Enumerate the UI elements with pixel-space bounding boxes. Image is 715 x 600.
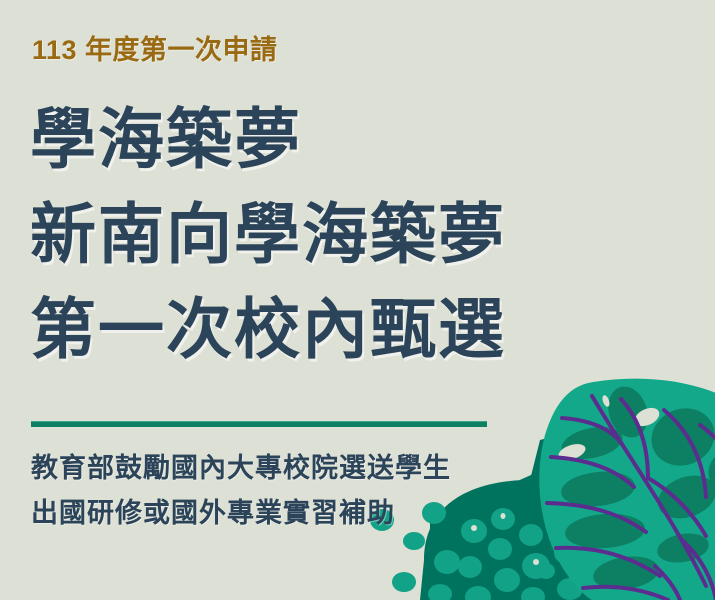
title-line-2: 新南向學海築夢 xyxy=(30,187,690,282)
section-divider xyxy=(31,421,487,427)
title-line-1: 學海築夢 xyxy=(30,92,690,187)
subtitle-line-1: 教育部鼓勵國內大專校院選送學生 xyxy=(31,446,531,491)
poster-canvas: 113 年度第一次申請 學海築夢 新南向學海築夢 第一次校內甄選 教育部鼓勵國內… xyxy=(0,0,715,600)
page-title: 學海築夢 新南向學海築夢 第一次校內甄選 xyxy=(30,92,690,377)
poster-content: 113 年度第一次申請 學海築夢 新南向學海築夢 第一次校內甄選 教育部鼓勵國內… xyxy=(0,0,715,600)
subtitle-line-2: 出國研修或國外專業實習補助 xyxy=(31,491,531,536)
subtitle: 教育部鼓勵國內大專校院選送學生 出國研修或國外專業實習補助 xyxy=(31,446,531,536)
application-round-label: 113 年度第一次申請 xyxy=(32,28,278,67)
title-line-3: 第一次校內甄選 xyxy=(30,282,690,377)
